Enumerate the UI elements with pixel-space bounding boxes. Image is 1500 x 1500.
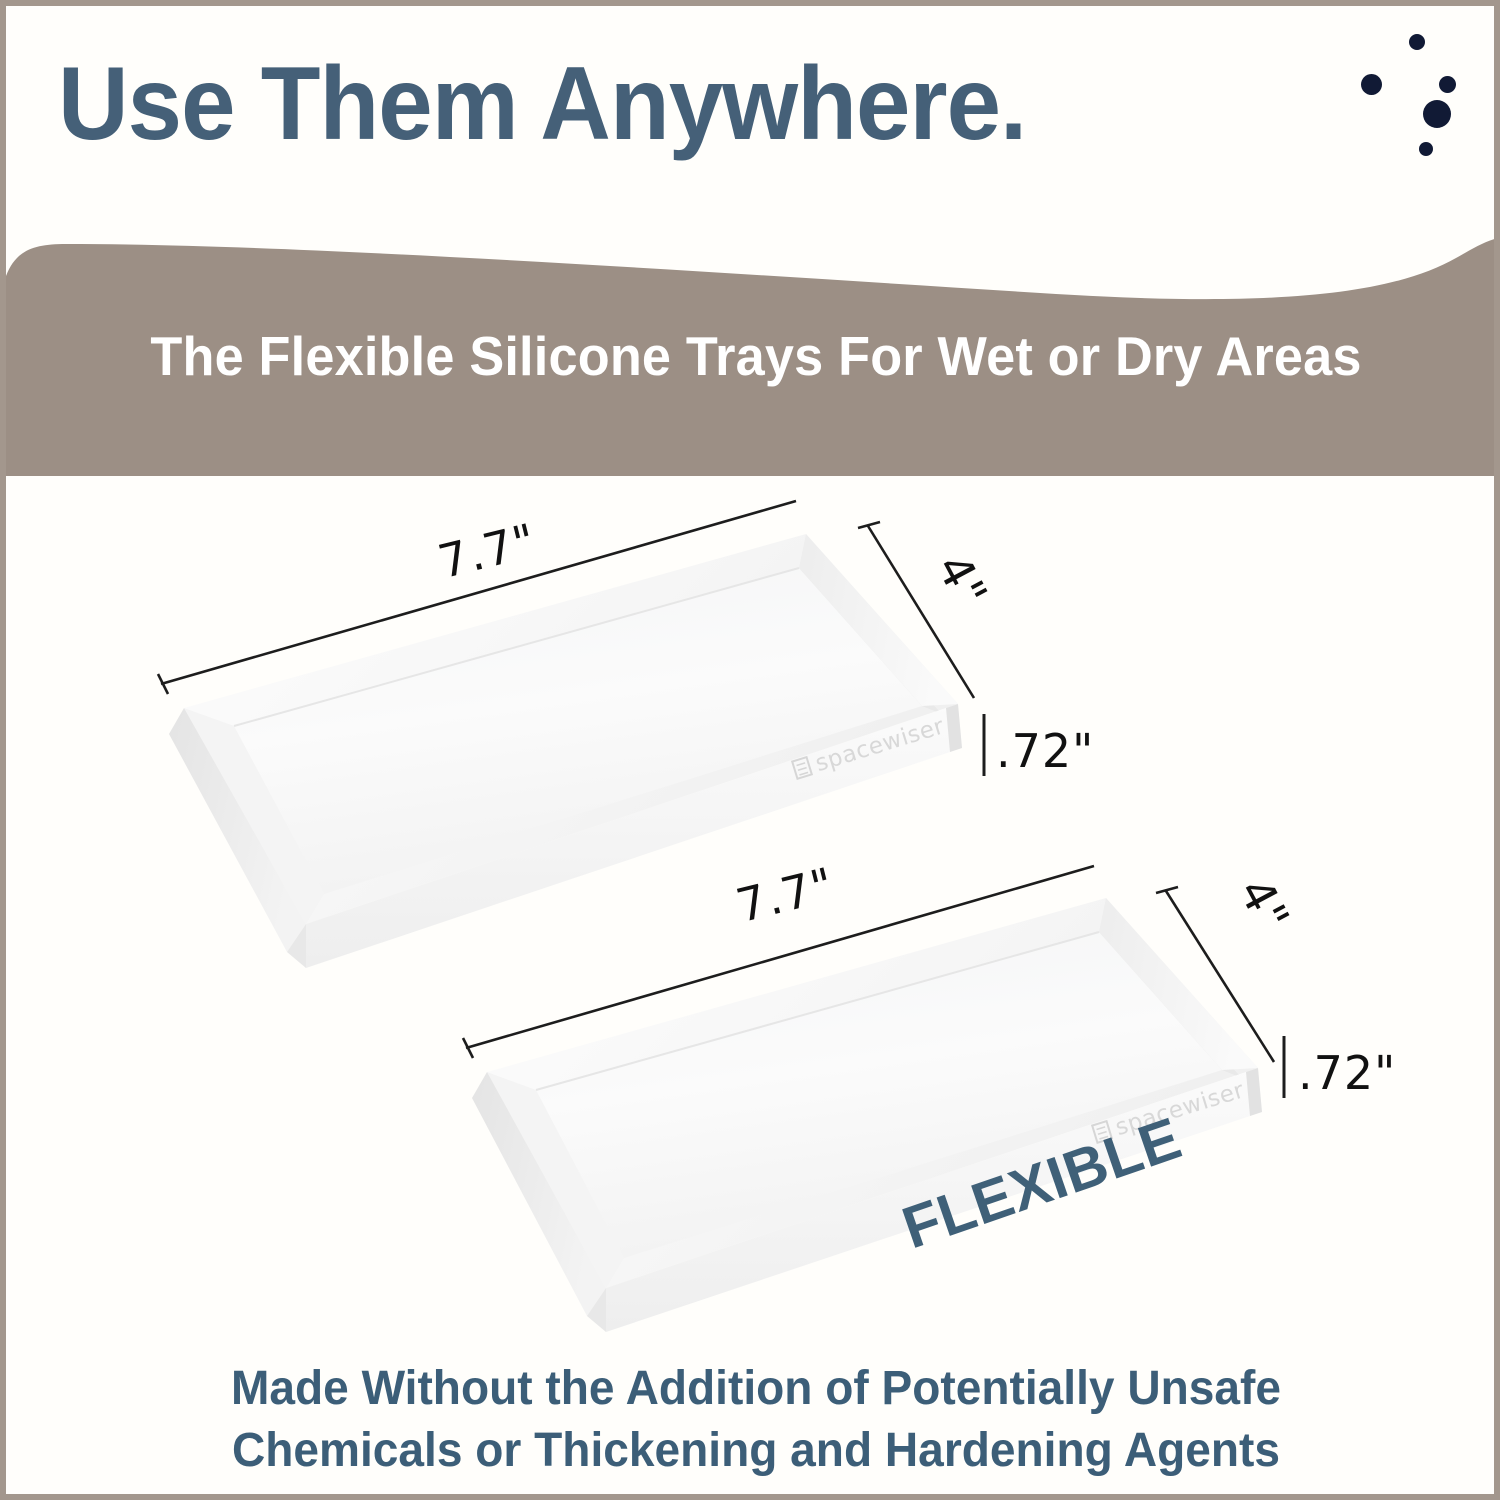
- footer-line-2: Chemicals or Thickening and Hardening Ag…: [63, 1420, 1449, 1482]
- dot-5: [1419, 142, 1433, 156]
- infographic-canvas: Use Them Anywhere. The Flexible Silicone…: [0, 0, 1500, 1500]
- dot-1: [1409, 34, 1425, 50]
- footer-line-1: Made Without the Addition of Potentially…: [63, 1358, 1449, 1420]
- dot-4: [1423, 100, 1451, 128]
- dot-3: [1439, 76, 1456, 93]
- dimension-label-height-lower: .72": [1298, 1046, 1396, 1100]
- tray-upper: spacewiser: [158, 501, 984, 968]
- dot-cluster-decoration: [1361, 34, 1481, 174]
- footer-claim: Made Without the Addition of Potentially…: [36, 1358, 1476, 1483]
- dot-2: [1361, 74, 1382, 95]
- page-title: Use Them Anywhere.: [58, 52, 1242, 156]
- dimension-label-height-upper: .72": [996, 724, 1094, 778]
- banner-subtitle: The Flexible Silicone Trays For Wet or D…: [44, 324, 1469, 388]
- tray-lower: spacewiser: [463, 866, 1284, 1332]
